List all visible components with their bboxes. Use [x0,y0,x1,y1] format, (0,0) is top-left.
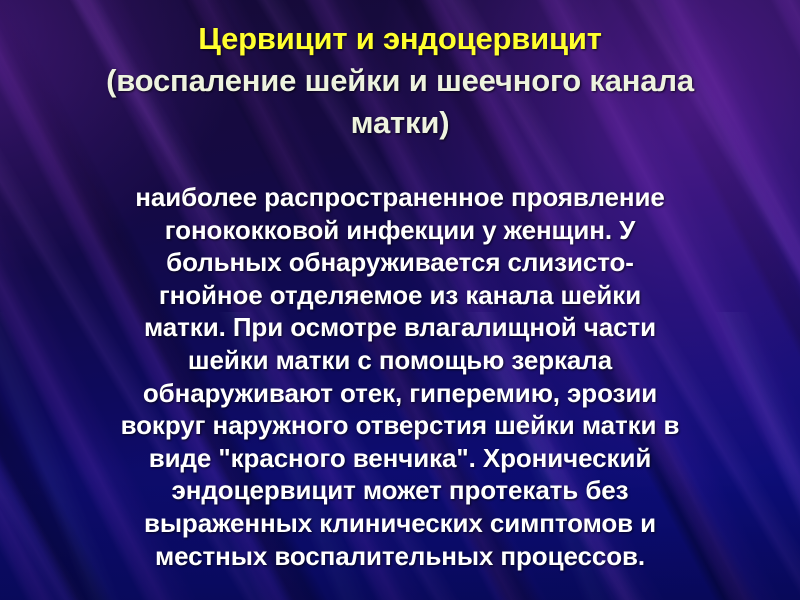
body-line-7: обнаруживают отек, гиперемию, эрозии [58,377,742,410]
title-line-3: матки) [22,102,778,144]
body-line-10: эндоцервицит может протекать без [58,474,742,507]
title-line-1: Цервицит и эндоцервицит [22,18,778,60]
slide-title: Цервицит и эндоцервицит (воспаление шейк… [22,18,778,144]
presentation-slide: Цервицит и эндоцервицит (воспаление шейк… [0,0,800,600]
slide-body: наиболее распространенное проявление гон… [58,181,742,572]
body-line-6: шейки матки с помощью зеркала [58,344,742,377]
body-line-4: гнойное отделяемое из канала шейки [58,279,742,312]
body-line-8: вокруг наружного отверстия шейки матки в [58,409,742,442]
body-line-2: гонококковой инфекции у женщин. У [58,214,742,247]
slide-content: Цервицит и эндоцервицит (воспаление шейк… [0,0,800,600]
body-line-11: выраженных клинических симптомов и [58,507,742,540]
body-line-5: матки. При осмотре влагалищной части [58,311,742,344]
title-line-2: (воспаление шейки и шеечного канала [22,60,778,102]
body-line-9: виде "красного венчика". Хронический [58,442,742,475]
body-line-3: больных обнаруживается слизисто- [58,246,742,279]
body-line-12: местных воспалительных процессов. [58,540,742,573]
body-line-1: наиболее распространенное проявление [58,181,742,214]
